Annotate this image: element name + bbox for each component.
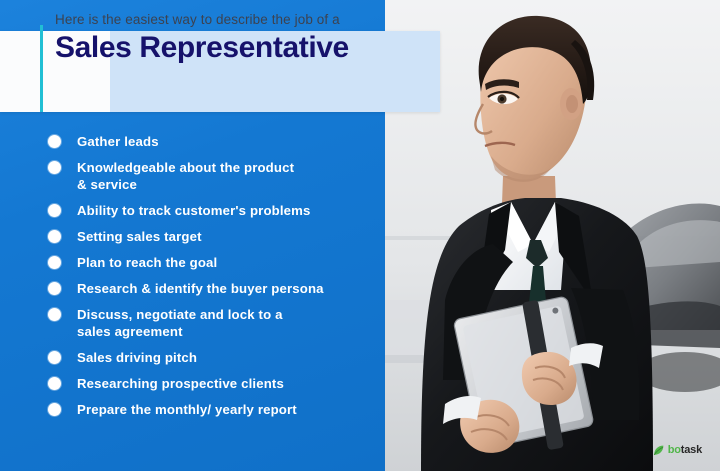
list-item: Discuss, negotiate and lock to asales ag… [48, 306, 388, 340]
list-item-label: Plan to reach the goal [77, 254, 217, 271]
list-item-label: Prepare the monthly/ yearly report [77, 401, 297, 418]
botask-logo[interactable]: botask [652, 444, 702, 457]
list-item-line: & service [77, 176, 294, 193]
bullet-dot-icon [48, 308, 61, 321]
logo-text-secondary: task [681, 444, 702, 456]
bullet-dot-icon [48, 256, 61, 269]
list-item: Setting sales target [48, 228, 388, 245]
bullet-dot-icon [48, 230, 61, 243]
list-item-label: Gather leads [77, 133, 159, 150]
page-title: Sales Representative [55, 30, 435, 66]
list-item-line: Prepare the monthly/ yearly report [77, 401, 297, 418]
bullet-dot-icon [48, 282, 61, 295]
list-item: Knowledgeable about the product& service [48, 159, 388, 193]
list-item-line: Sales driving pitch [77, 349, 197, 366]
list-item-label: Research & identify the buyer persona [77, 280, 324, 297]
logo-text-primary: bo [668, 444, 681, 456]
responsibilities-list: Gather leadsKnowledgeable about the prod… [48, 133, 388, 427]
list-item-label: Discuss, negotiate and lock to asales ag… [77, 306, 283, 340]
list-item: Research & identify the buyer persona [48, 280, 388, 297]
list-item: Plan to reach the goal [48, 254, 388, 271]
list-item-line: Discuss, negotiate and lock to a [77, 306, 283, 323]
list-item-label: Sales driving pitch [77, 349, 197, 366]
poster-canvas: Here is the easiest way to describe the … [0, 0, 720, 471]
bullet-dot-icon [48, 403, 61, 416]
list-item-line: Researching prospective clients [77, 375, 284, 392]
bullet-dot-icon [48, 161, 61, 174]
list-item: Researching prospective clients [48, 375, 388, 392]
list-item-line: Knowledgeable about the product [77, 159, 294, 176]
bullet-dot-icon [48, 351, 61, 364]
leaf-icon [652, 444, 665, 457]
list-item-label: Researching prospective clients [77, 375, 284, 392]
bullet-dot-icon [48, 135, 61, 148]
bullet-dot-icon [48, 377, 61, 390]
logo-wordmark: botask [668, 444, 702, 457]
list-item-line: Setting sales target [77, 228, 202, 245]
list-item-line: Plan to reach the goal [77, 254, 217, 271]
accent-rule [40, 25, 43, 112]
list-item-label: Ability to track customer's problems [77, 202, 311, 219]
list-item-label: Setting sales target [77, 228, 202, 245]
list-item-label: Knowledgeable about the product& service [77, 159, 294, 193]
list-item: Sales driving pitch [48, 349, 388, 366]
list-item-line: Ability to track customer's problems [77, 202, 311, 219]
list-item-line: Research & identify the buyer persona [77, 280, 324, 297]
kicker-text: Here is the easiest way to describe the … [55, 12, 435, 28]
list-item-line: sales agreement [77, 323, 283, 340]
list-item: Ability to track customer's problems [48, 202, 388, 219]
list-item-line: Gather leads [77, 133, 159, 150]
list-item: Gather leads [48, 133, 388, 150]
bullet-dot-icon [48, 204, 61, 217]
list-item: Prepare the monthly/ yearly report [48, 401, 388, 418]
header-text-block: Here is the easiest way to describe the … [55, 5, 435, 66]
